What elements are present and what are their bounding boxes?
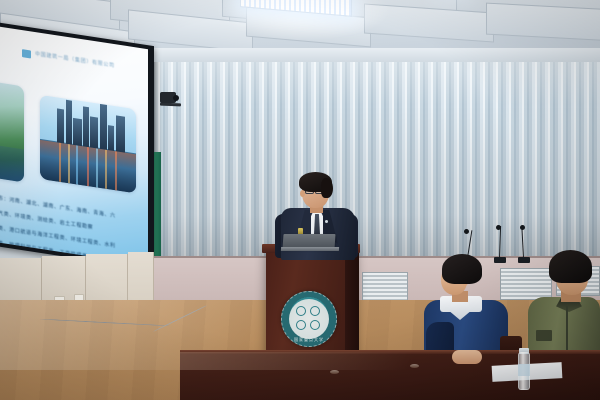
wall-panel (128, 252, 154, 304)
wall-vent (500, 268, 552, 300)
presenter-pin (325, 220, 328, 223)
table-grommet (410, 364, 419, 368)
projection-screen-frame: 中国建筑一局（集团）有限公司 (0, 22, 154, 270)
audience-olive-hair (549, 250, 592, 283)
crest-subtitle: 国家重点大学 (294, 337, 324, 343)
laptop-base (281, 247, 339, 251)
slide-city-photo (40, 95, 136, 194)
crest-inner (289, 299, 329, 339)
slide-logo-icon (22, 49, 31, 58)
jacket-pocket (536, 330, 552, 341)
audience-navy-hair (442, 254, 482, 284)
table-microphone (494, 226, 506, 258)
table-microphone (518, 226, 530, 258)
bottle-label (518, 364, 530, 376)
university-crest: 国家重点大学 (281, 291, 337, 347)
audience-navy-hand (452, 350, 482, 364)
projection-screen: 中国建筑一局（集团）有限公司 (0, 26, 148, 265)
podium-side (345, 250, 359, 362)
camera-lens-icon (173, 95, 179, 101)
presenter-hair-side (321, 178, 333, 198)
wall-panel (86, 254, 128, 306)
photograph-scene: 中国建筑一局（集团）有限公司 (0, 0, 600, 400)
window-curtains (152, 62, 600, 258)
slide-campus-photo (0, 80, 24, 182)
